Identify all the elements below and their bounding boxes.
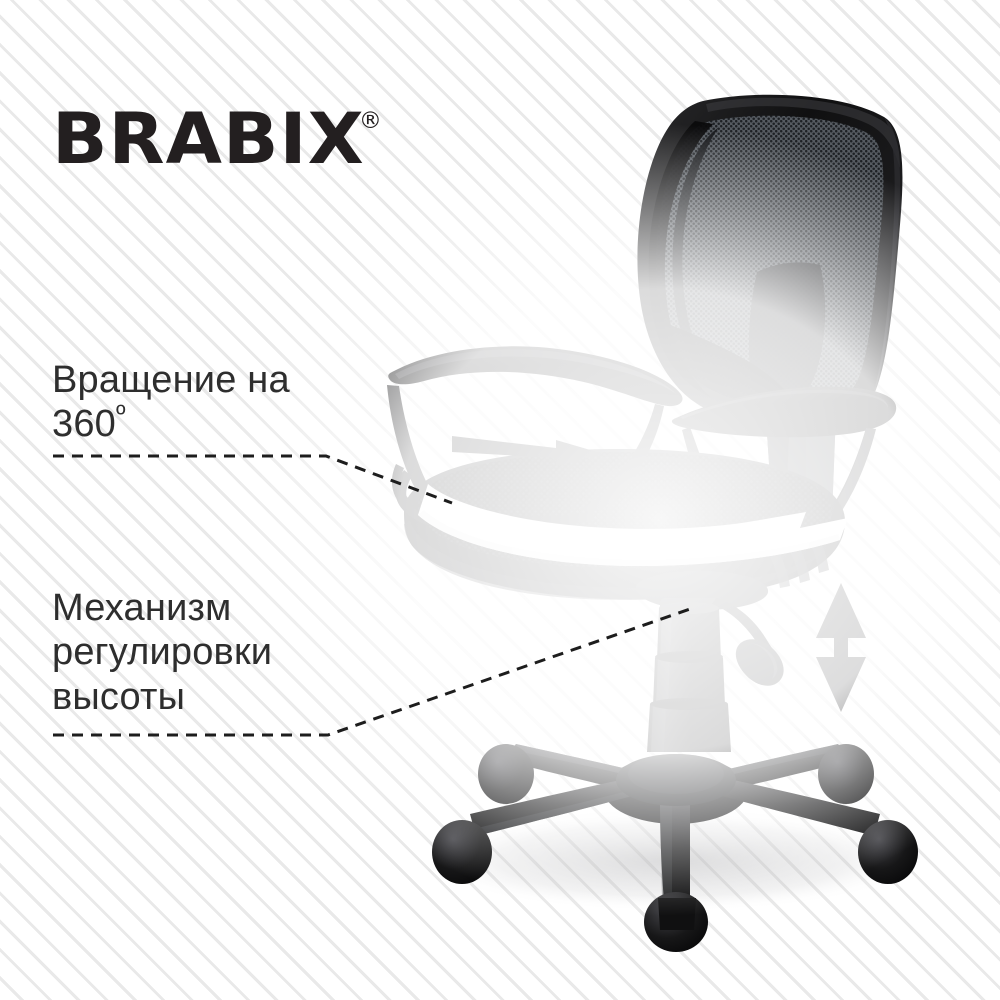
- caster: [432, 820, 492, 884]
- callout-rotation-label: Вращение на 360º: [52, 358, 382, 447]
- brand-name: BRABIX: [52, 104, 365, 174]
- caster: [858, 820, 918, 884]
- degree-symbol: º: [116, 399, 126, 429]
- caster: [478, 744, 534, 804]
- callout-height: Механизм регулировки высоты: [52, 586, 382, 719]
- backrest: [637, 95, 902, 431]
- caster: [818, 744, 874, 804]
- callout-rotation: Вращение на 360º: [52, 358, 382, 447]
- height-double-arrow: [816, 583, 866, 712]
- callout-height-label: Механизм регулировки высоты: [52, 586, 382, 719]
- brand-logo: BRABIX ®: [52, 104, 382, 174]
